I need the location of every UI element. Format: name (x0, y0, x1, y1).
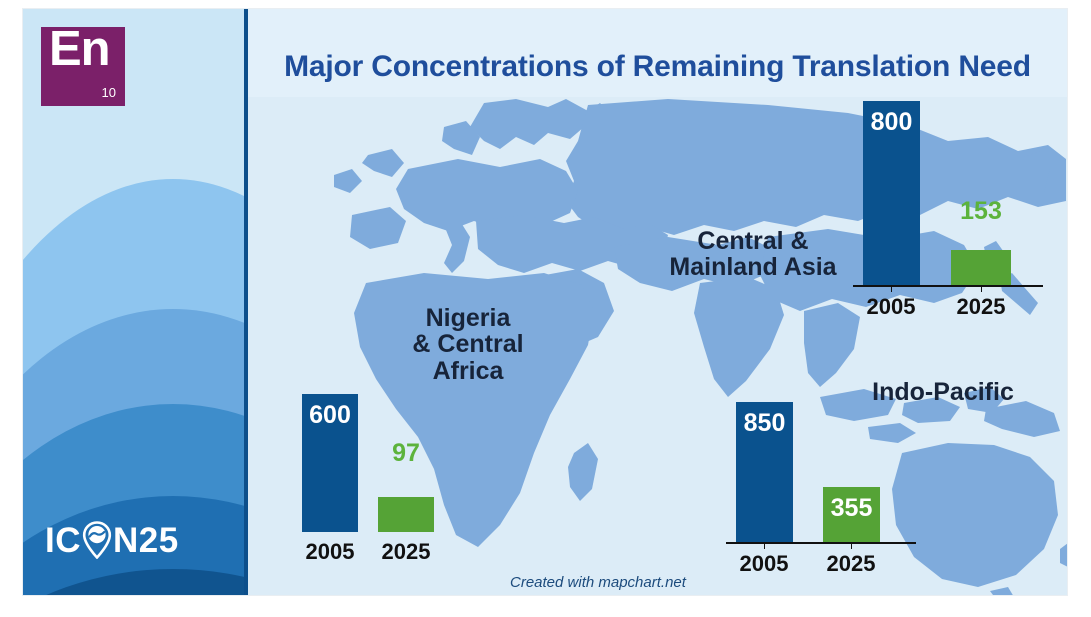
chart-label-indo-pacific: Indo-Pacific (828, 379, 1058, 405)
bar-2025-nigeria (378, 497, 434, 532)
icon25-wordmark: IC N25 (45, 520, 179, 560)
bar-2005-asia: 800 (863, 101, 920, 285)
label-line-1: Indo-Pacific (828, 379, 1058, 405)
main-panel: Major Concentrations of Remaining Transl… (248, 9, 1067, 595)
map-credit: Created with mapchart.net (510, 574, 686, 591)
sidebar: En 10 IC N25 (23, 9, 244, 595)
chart-tick-2025-asia (981, 287, 982, 292)
chart-tick-2005-indo-pacific (764, 544, 765, 549)
chart-indo-pacific: Indo-Pacific 850 355 2005 2025 (718, 371, 1048, 571)
year-label-2005-nigeria: 2005 (296, 539, 364, 565)
bar-2025-indo-pacific: 355 (823, 487, 880, 542)
en-logo: En 10 (41, 27, 125, 106)
chart-tick-2025-indo-pacific (851, 544, 852, 549)
year-label-2025-indo-pacific: 2025 (817, 551, 885, 577)
bar-value-2005-asia: 800 (863, 108, 920, 137)
bar-value-2005-nigeria: 600 (302, 401, 358, 430)
bar-2025-asia (951, 250, 1011, 285)
chart-axis-indo-pacific (726, 542, 916, 544)
bar-value-2025-asia: 153 (951, 197, 1011, 226)
bar-value-2025-indo-pacific: 355 (823, 494, 880, 523)
en-logo-number: 10 (102, 85, 116, 100)
chart-nigeria-central-africa: Nigeria & Central Africa 600 97 2005 202… (288, 299, 508, 569)
label-line-1: Nigeria (388, 305, 548, 331)
label-line-2: & Central (388, 331, 548, 357)
slide-canvas: En 10 IC N25 (22, 8, 1068, 596)
label-line-2: Mainland Asia (648, 254, 858, 280)
year-label-2025-nigeria: 2025 (372, 539, 440, 565)
bar-value-2025-nigeria: 97 (378, 439, 434, 468)
chart-label-nigeria-central-africa: Nigeria & Central Africa (388, 305, 548, 384)
chart-central-mainland-asia: Central & Mainland Asia 800 153 2005 202… (648, 29, 1038, 329)
chart-label-central-mainland-asia: Central & Mainland Asia (648, 228, 858, 281)
bar-2005-indo-pacific: 850 (736, 402, 793, 542)
map-pin-icon (82, 521, 112, 559)
chart-tick-2005-asia (891, 287, 892, 292)
year-label-2005-indo-pacific: 2005 (730, 551, 798, 577)
chart-axis-asia (853, 285, 1043, 287)
bar-2005-nigeria: 600 (302, 394, 358, 532)
wordmark-part2: N25 (113, 523, 179, 558)
label-line-1: Central & (648, 228, 858, 254)
en-logo-letters: En (49, 25, 110, 74)
bar-value-2005-indo-pacific: 850 (736, 409, 793, 438)
year-label-2005-asia: 2005 (857, 294, 925, 320)
year-label-2025-asia: 2025 (947, 294, 1015, 320)
label-line-3: Africa (388, 358, 548, 384)
wordmark-part1: IC (45, 523, 81, 558)
